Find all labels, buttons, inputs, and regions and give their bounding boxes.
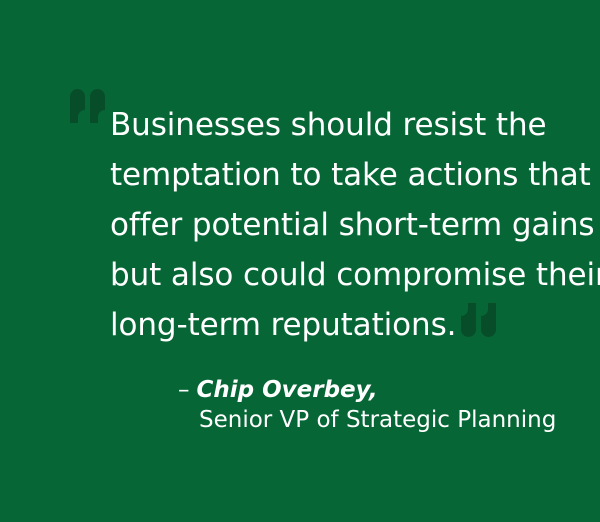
quote-line: temptation to take actions that [110,150,580,200]
close-quote-stem-left [481,303,496,337]
close-quote-stem-right [461,303,476,337]
quote-card: Businesses should resist the temptation … [0,0,600,522]
attribution-name: Chip Overbey, [197,377,378,403]
quote-line: Businesses should resist the [110,100,580,150]
open-quote-mark [70,89,106,123]
quote-line: but also could compromise their [110,250,580,300]
quote-text: Businesses should resist the temptation … [110,100,580,352]
close-quote-mark [460,303,496,337]
open-quote-stem-right [90,89,105,123]
close-quote-wrapper [460,302,496,352]
attribution-name-line: –Chip Overbey, [178,375,556,405]
quote-line-last: long-term reputations. [110,300,580,352]
attribution-dash: – [178,377,190,403]
attribution: –Chip Overbey, Senior VP of Strategic Pl… [178,375,556,435]
open-quote-stem-left [70,89,85,123]
quote-line-text: long-term reputations. [110,307,456,343]
quote-line: offer potential short-term gains [110,200,580,250]
attribution-role: Senior VP of Strategic Planning [199,405,556,435]
